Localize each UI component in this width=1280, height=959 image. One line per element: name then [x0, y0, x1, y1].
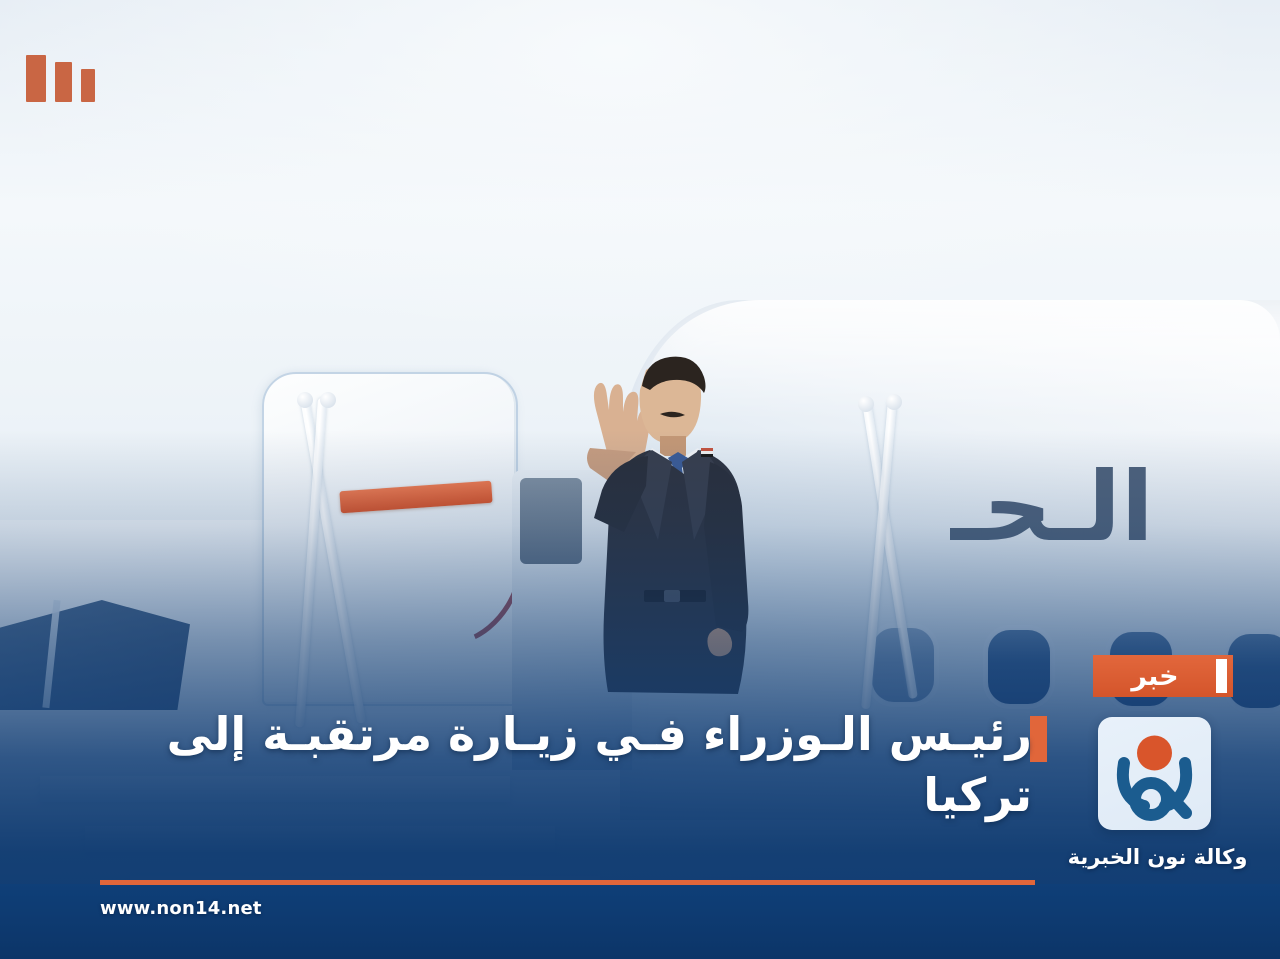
news-badge-label: خبر	[1131, 663, 1178, 690]
stair-tread	[85, 826, 555, 852]
bar-2-icon	[55, 62, 72, 102]
agency-name: وكالة نون الخبرية	[1055, 845, 1260, 869]
headline-text: رئيـس الـوزراء فـي زيـارة مرتقبـة إلى تر…	[152, 704, 1032, 825]
footer-blue-band	[0, 884, 1280, 959]
three-bars-mark-icon	[26, 55, 104, 102]
bar-1-icon	[26, 55, 46, 102]
noon-agency-logo-icon	[1098, 717, 1211, 830]
handrail-cap	[886, 394, 902, 410]
cockpit-windows	[0, 600, 190, 710]
headline-accent-bar	[1030, 716, 1047, 762]
orange-divider-rule	[100, 880, 1035, 885]
cabin-window	[1228, 634, 1280, 708]
handrail-cap	[858, 396, 874, 412]
news-graphic-card: الـحـ	[0, 0, 1280, 959]
handrail-cap	[297, 392, 313, 408]
news-badge: خبر	[1093, 655, 1233, 697]
cabin-window	[988, 630, 1050, 704]
fuselage-arabic-decal: الـحـ	[950, 452, 1270, 572]
person-waving	[560, 352, 790, 712]
handrail-cap	[320, 392, 336, 408]
website-url: www.non14.net	[100, 898, 262, 919]
bar-3-icon	[81, 69, 95, 102]
badge-white-tick-icon	[1216, 659, 1227, 693]
